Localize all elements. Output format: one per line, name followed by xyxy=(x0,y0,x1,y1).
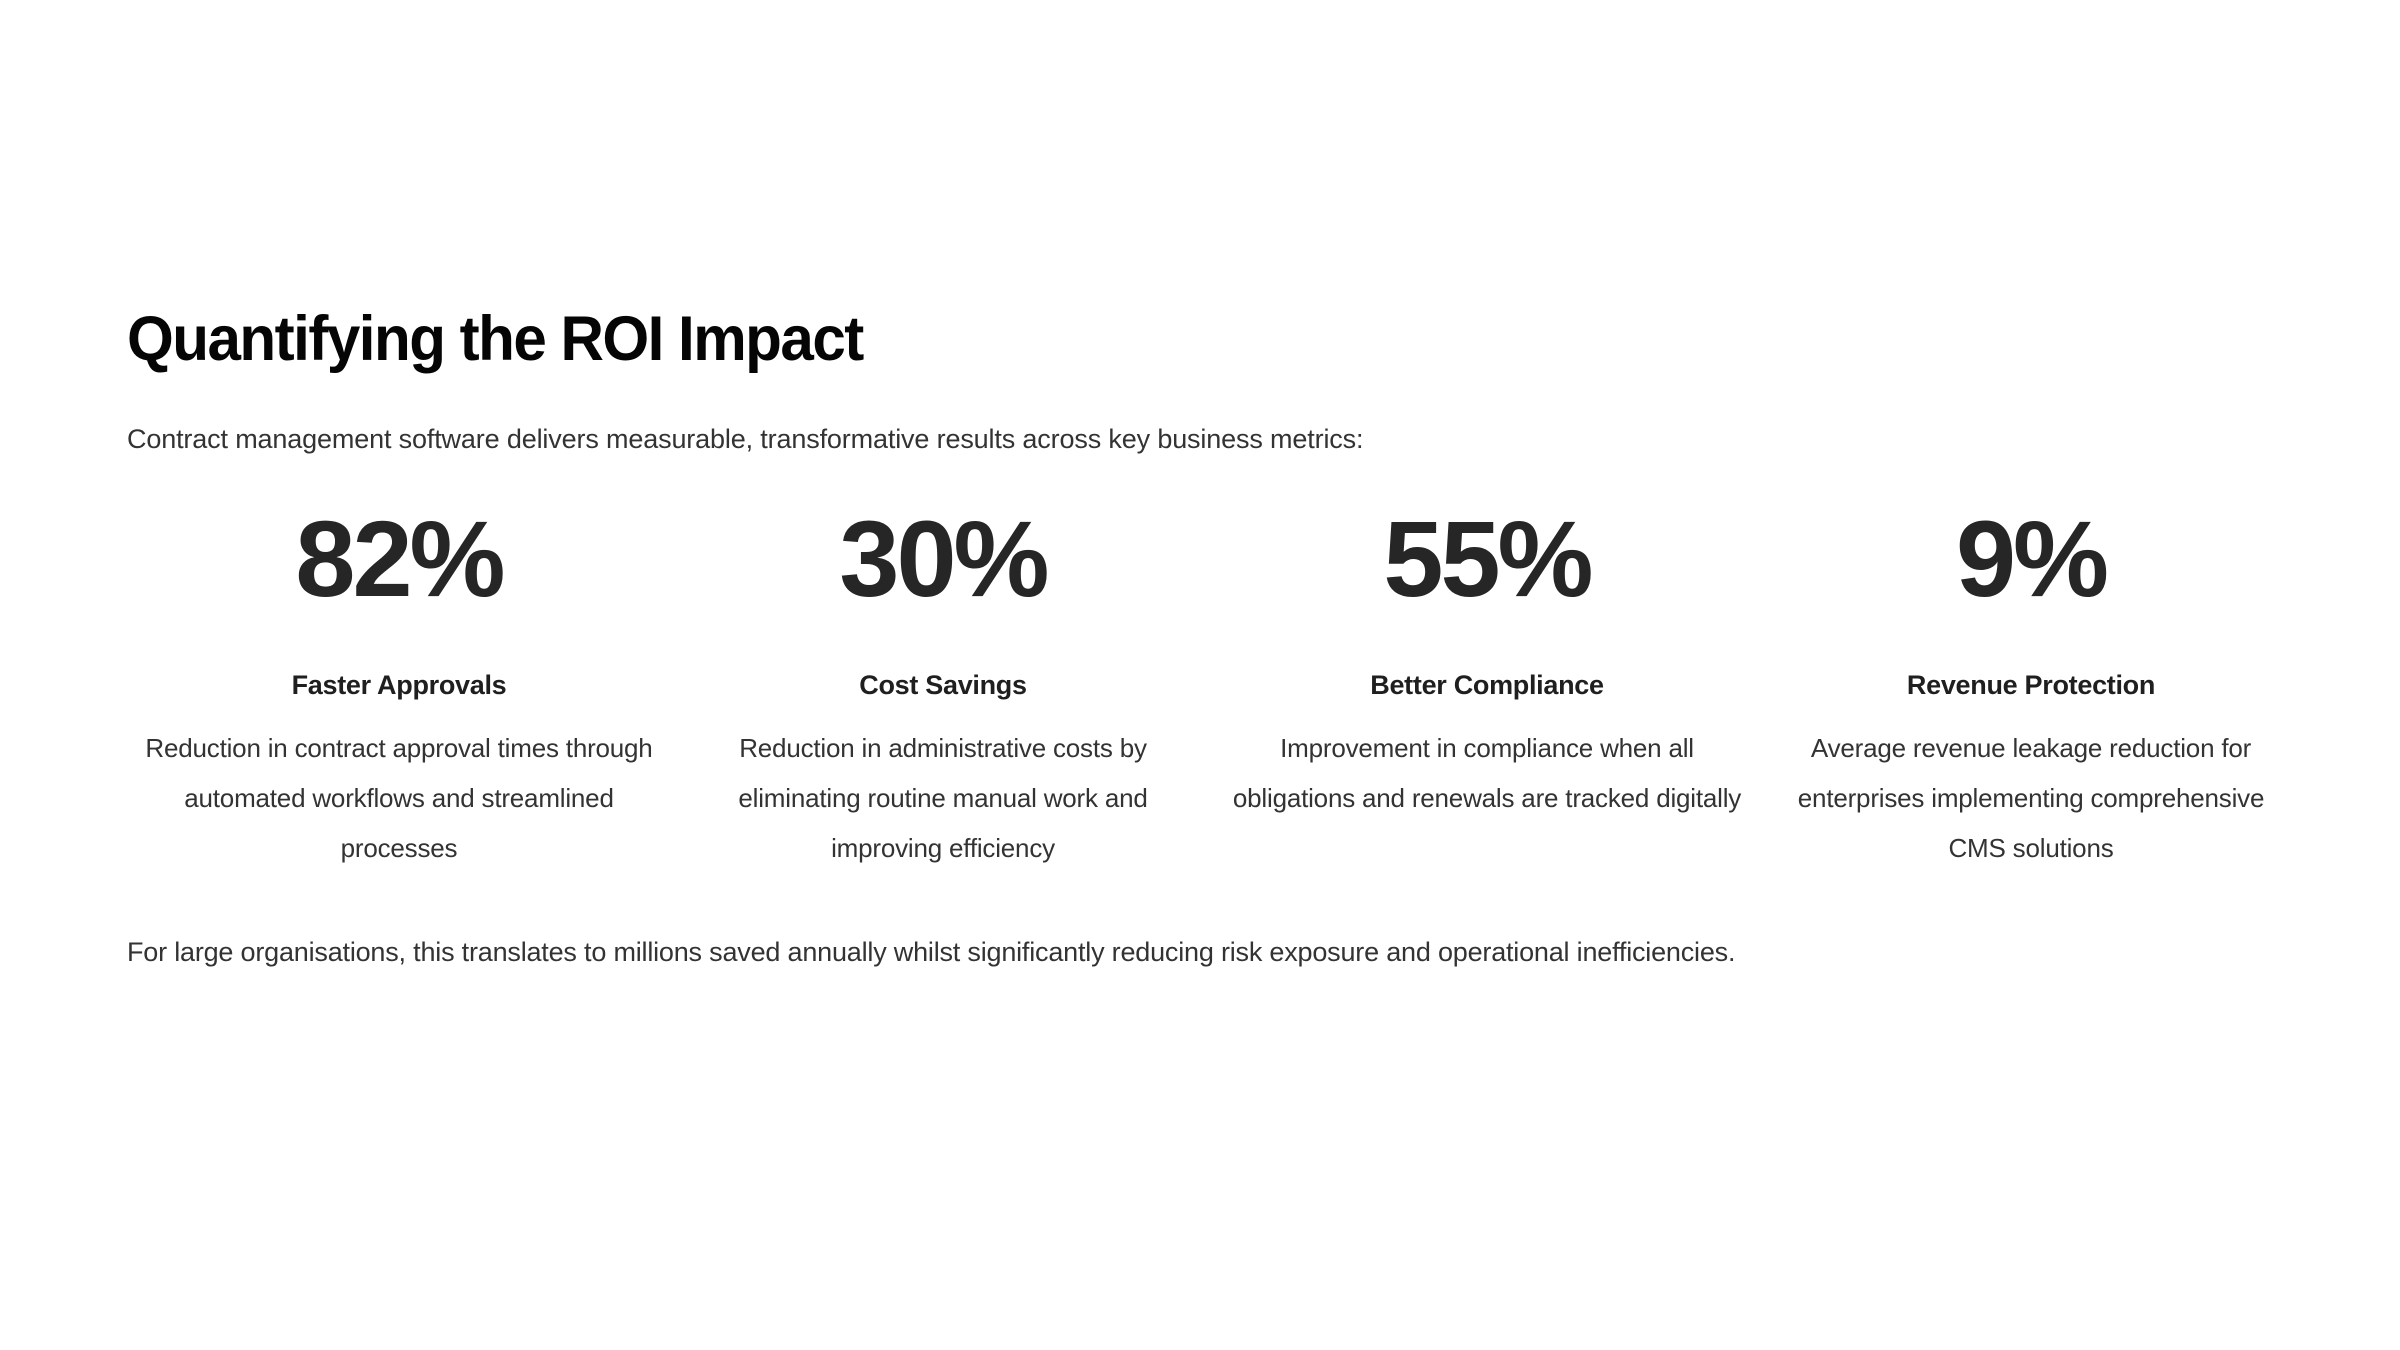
stat-description: Reduction in administrative costs by eli… xyxy=(685,702,1201,873)
stat-label: Better Compliance xyxy=(1229,613,1745,702)
intro-paragraph: Contract management software delivers me… xyxy=(127,378,2303,458)
stat-description: Reduction in contract approval times thr… xyxy=(141,702,657,873)
stats-grid: 82% Faster Approvals Reduction in contra… xyxy=(127,458,2303,873)
content-container: Quantifying the ROI Impact Contract mana… xyxy=(127,300,2303,971)
stat-card: 82% Faster Approvals Reduction in contra… xyxy=(127,503,671,873)
stat-card: 55% Better Compliance Improvement in com… xyxy=(1215,503,1759,823)
stat-value: 82% xyxy=(141,503,657,613)
stat-value: 55% xyxy=(1229,503,1745,613)
stat-label: Cost Savings xyxy=(685,613,1201,702)
stat-description: Improvement in compliance when all oblig… xyxy=(1229,702,1745,823)
stat-value: 9% xyxy=(1773,503,2289,613)
stat-label: Revenue Protection xyxy=(1773,613,2289,702)
closing-paragraph: For large organisations, this translates… xyxy=(127,873,2303,971)
stat-label: Faster Approvals xyxy=(141,613,657,702)
stat-value: 30% xyxy=(685,503,1201,613)
stat-card: 9% Revenue Protection Average revenue le… xyxy=(1759,503,2303,873)
stat-card: 30% Cost Savings Reduction in administra… xyxy=(671,503,1215,873)
stat-description: Average revenue leakage reduction for en… xyxy=(1773,702,2289,873)
roi-impact-section: Quantifying the ROI Impact Contract mana… xyxy=(0,0,2400,1350)
page-title: Quantifying the ROI Impact xyxy=(127,300,2205,378)
